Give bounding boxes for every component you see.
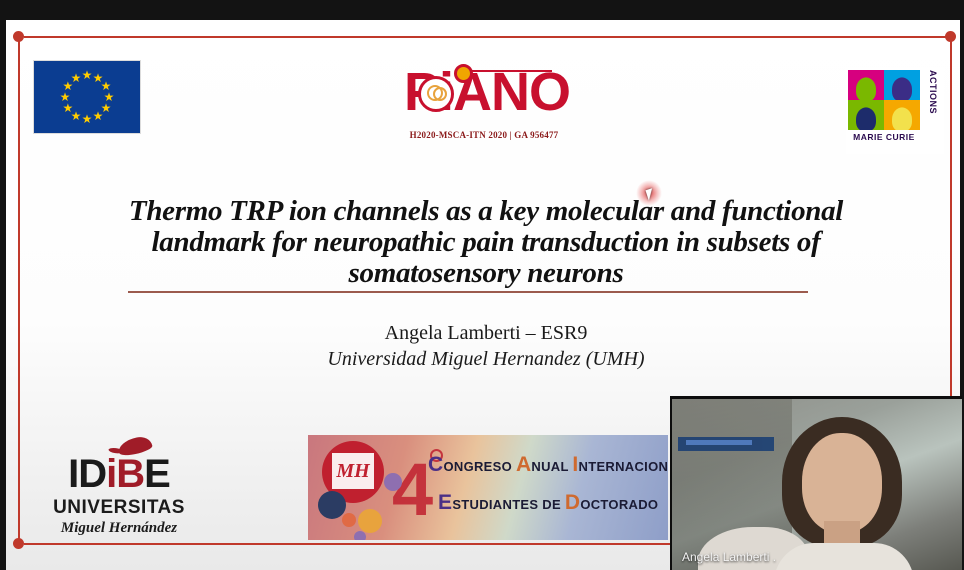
congress-banner: MH 4 CONGRESO ANUAL INTERNACIONAL ESTUDI… bbox=[308, 435, 668, 540]
participant-name-label: Angela Lamberti . bbox=[682, 550, 776, 564]
portrait-quadrant-1 bbox=[848, 70, 884, 100]
portrait-quadrant-4 bbox=[884, 100, 920, 130]
banner-dot-5 bbox=[342, 513, 356, 527]
participant-video-tile[interactable]: Angela Lamberti . bbox=[670, 396, 962, 570]
idibe-part-e: E bbox=[144, 452, 170, 496]
marie-curie-name: MARIE CURIE bbox=[846, 132, 922, 142]
letterbox-bar-top bbox=[0, 0, 964, 20]
congress-ordinal: 4 bbox=[392, 453, 433, 527]
slide-title: Thermo TRP ion channels as a key molecul… bbox=[101, 196, 871, 289]
frame-dot-top-right bbox=[945, 31, 956, 42]
banner-dot-3 bbox=[384, 473, 402, 491]
title-divider bbox=[128, 291, 808, 293]
congress-word-internacional: NTERNACIONAL bbox=[579, 459, 668, 474]
piano-i-dot-icon bbox=[454, 64, 473, 83]
eu-flag-icon: ★★★★★★★★★★★★ bbox=[33, 60, 141, 134]
presentation-screen: ★★★★★★★★★★★★ PiANO H2020-MSCA-ITN 2020 |… bbox=[0, 0, 964, 570]
congress-word-congreso: ONGRESO bbox=[443, 459, 515, 474]
idibe-miguel-hernandez: Miguel Hernández bbox=[44, 520, 194, 537]
portrait-quadrant-3 bbox=[848, 100, 884, 130]
portrait-quadrant-2 bbox=[884, 70, 920, 100]
congress-cap-d: D bbox=[565, 491, 580, 514]
frame-dot-bottom-left bbox=[13, 538, 24, 549]
piano-funding-line: H2020-MSCA-ITN 2020 | GA 956477 bbox=[404, 130, 564, 140]
idibe-part-b: B bbox=[116, 452, 144, 496]
idibe-part-id: ID bbox=[68, 452, 106, 496]
congress-word-doctorado: OCTORADO bbox=[580, 497, 658, 512]
frame-dot-top-left bbox=[13, 31, 24, 42]
frame-line-left bbox=[18, 36, 20, 544]
idibe-part-i: i bbox=[106, 452, 116, 496]
congress-cap-c: C bbox=[428, 453, 443, 476]
congress-line-1: CONGRESO ANUAL INTERNACIONAL bbox=[428, 453, 658, 477]
banner-dot-4 bbox=[354, 531, 366, 540]
piano-underline-rule bbox=[470, 70, 552, 72]
molecule-icon bbox=[418, 76, 454, 112]
idibe-wordmark: IDiBE bbox=[44, 452, 194, 496]
marie-curie-actions: ACTIONS bbox=[920, 70, 938, 132]
congress-cap-a: A bbox=[516, 453, 531, 476]
eu-star-icon: ★ bbox=[71, 72, 82, 84]
eu-star-icon: ★ bbox=[82, 69, 93, 81]
video-monitor-object bbox=[678, 437, 774, 451]
marie-curie-logo: MARIE CURIE ACTIONS bbox=[846, 68, 944, 154]
piano-wordmark: PiANO bbox=[404, 58, 564, 128]
person-face bbox=[802, 433, 882, 533]
congress-line-2: ESTUDIANTES DE DOCTORADO bbox=[438, 491, 668, 515]
author-name: Angela Lamberti – ESR9 bbox=[101, 320, 871, 346]
banner-dot-2 bbox=[358, 509, 382, 533]
congress-word-anual: NUAL bbox=[531, 459, 572, 474]
video-person bbox=[768, 417, 918, 570]
piano-logo: PiANO H2020-MSCA-ITN 2020 | GA 956477 bbox=[404, 58, 564, 156]
frame-line-top bbox=[24, 36, 952, 38]
banner-dot-1 bbox=[318, 491, 346, 519]
person-torso bbox=[774, 543, 914, 570]
congress-word-estudiantes: STUDIANTES DE bbox=[452, 497, 565, 512]
marie-curie-portrait-grid bbox=[848, 70, 920, 130]
idibe-logo: IDiBE UNIVERSITAS Miguel Hernández bbox=[44, 438, 194, 538]
author-block: Angela Lamberti – ESR9 Universidad Migue… bbox=[101, 320, 871, 372]
author-affiliation: Universidad Miguel Hernandez (UMH) bbox=[101, 346, 871, 372]
eu-star-icon: ★ bbox=[82, 113, 93, 125]
eu-star-icon: ★ bbox=[93, 110, 104, 122]
mh-monogram-text: MH bbox=[332, 453, 374, 489]
mh-monogram: MH bbox=[332, 453, 374, 489]
idibe-universitas: UNIVERSITAS bbox=[44, 497, 194, 519]
congress-cap-e: E bbox=[438, 491, 452, 514]
